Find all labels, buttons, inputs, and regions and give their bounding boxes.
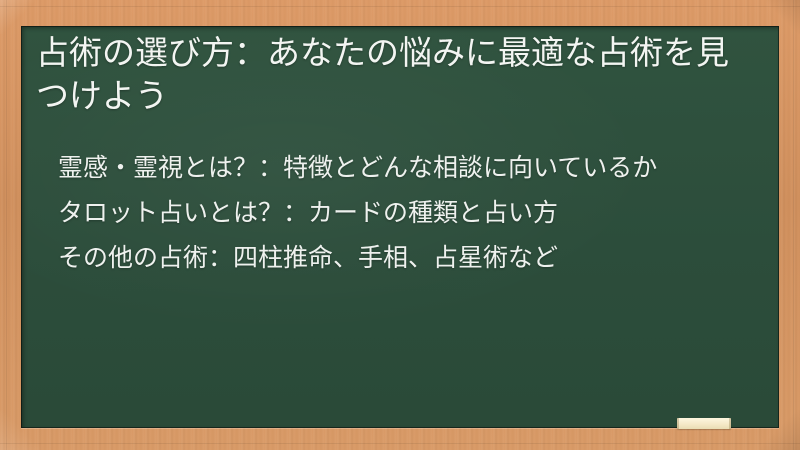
frame-seam-top: [0, 6, 800, 7]
board-title: 占術の選び方：あなたの悩みに最適な占術を見つけよう: [36, 31, 754, 117]
board-topic-list: 霊感・霊視とは？：特徴とどんな相談に向いているか タロット占いとは？：カードの種…: [36, 151, 761, 275]
frame-seam-right: [793, 0, 794, 450]
frame-seam-left: [6, 0, 7, 450]
frame-seam-bottom: [0, 443, 800, 444]
chalkboard-surface: 占術の選び方：あなたの悩みに最適な占術を見つけよう 霊感・霊視とは？：特徴とどん…: [21, 26, 779, 428]
list-item: その他の占術：四柱推命、手相、占星術など: [36, 241, 761, 275]
list-item: タロット占いとは？：カードの種類と占い方: [36, 196, 761, 230]
list-item: 霊感・霊視とは？：特徴とどんな相談に向いているか: [36, 151, 761, 185]
chalkboard-frame: 占術の選び方：あなたの悩みに最適な占術を見つけよう 霊感・霊視とは？：特徴とどん…: [0, 0, 800, 450]
chalk-stick-icon: [677, 418, 731, 429]
